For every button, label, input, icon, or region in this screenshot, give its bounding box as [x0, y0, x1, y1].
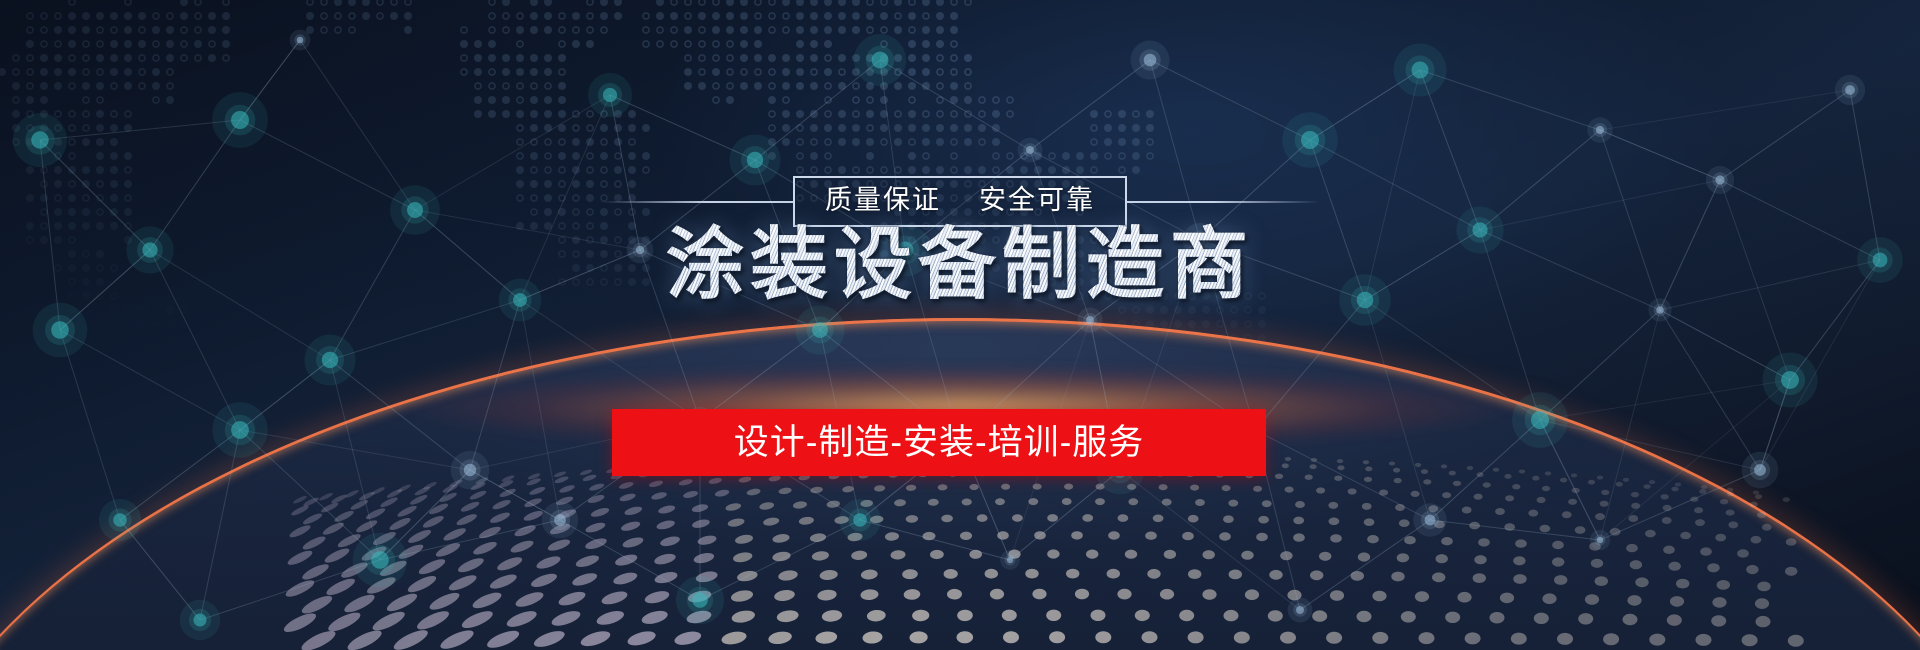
decorative-line-left-icon [601, 201, 793, 203]
tagline-item-safety: 安全可靠 [979, 187, 1095, 214]
tagline-item-quality: 质量保证 [825, 187, 941, 214]
services-badge-label: 设计-制造-安装-培训-服务 [734, 425, 1145, 460]
decorative-line-right-icon [1127, 201, 1319, 203]
hero-banner: 质量保证 安全可靠 涂装设备制造商 涂装设备制造商 设计-制造-安装-培训-服务 [0, 0, 1920, 650]
page-title: 涂装设备制造商 [0, 222, 1920, 308]
banner-content: 质量保证 安全可靠 涂装设备制造商 涂装设备制造商 设计-制造-安装-培训-服务 [0, 0, 1920, 650]
services-badge: 设计-制造-安装-培训-服务 [612, 409, 1266, 476]
